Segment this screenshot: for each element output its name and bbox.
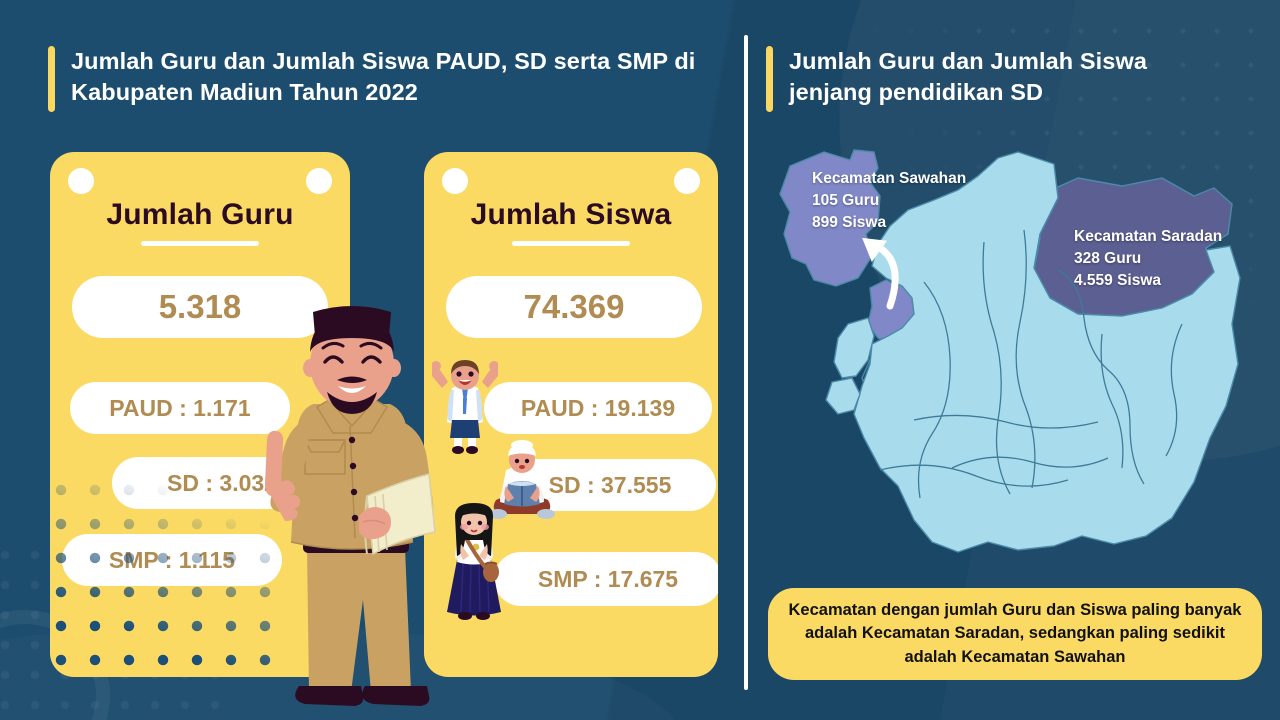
- siswa-smp-value: SMP : 17.675: [494, 552, 718, 606]
- title-accent-bar: [48, 46, 55, 112]
- map-caption-box: Kecamatan dengan jumlah Guru dan Siswa p…: [768, 588, 1262, 680]
- label-sawahan-siswa: 899 Siswa: [812, 212, 966, 234]
- card-header: Jumlah Guru: [50, 198, 350, 246]
- title-accent-bar: [766, 46, 773, 112]
- label-sawahan-name: Kecamatan Sawahan: [812, 168, 966, 190]
- label-saradan-name: Kecamatan Saradan: [1074, 226, 1222, 248]
- right-panel-title: Jumlah Guru dan Jumlah Siswa jenjang pen…: [766, 46, 1236, 112]
- punch-hole-icon: [68, 168, 94, 194]
- map-region-west-small-2: [826, 378, 860, 414]
- infographic-canvas: Jumlah Guru dan Jumlah Siswa PAUD, SD se…: [0, 0, 1280, 720]
- punch-hole-icon: [442, 168, 468, 194]
- card-underline: [141, 241, 259, 246]
- left-panel-title: Jumlah Guru dan Jumlah Siswa PAUD, SD se…: [48, 46, 708, 112]
- card-title: Jumlah Guru: [50, 198, 350, 232]
- punch-hole-icon: [674, 168, 700, 194]
- student-girl-icon: [443, 502, 505, 624]
- punch-hole-icon: [306, 168, 332, 194]
- left-title-text: Jumlah Guru dan Jumlah Siswa PAUD, SD se…: [71, 46, 708, 108]
- siswa-paud-value: PAUD : 19.139: [484, 382, 712, 434]
- card-underline: [512, 241, 630, 246]
- map-caption-text: Kecamatan dengan jumlah Guru dan Siswa p…: [786, 599, 1244, 669]
- right-title-text: Jumlah Guru dan Jumlah Siswa jenjang pen…: [789, 46, 1236, 108]
- panel-divider: [744, 35, 748, 690]
- guru-smp-value: SMP : 1.115: [62, 534, 282, 586]
- card-header: Jumlah Siswa: [424, 198, 718, 246]
- map-kabupaten-madiun: Kecamatan Sawahan 105 Guru 899 Siswa Kec…: [762, 138, 1272, 578]
- label-sawahan-guru: 105 Guru: [812, 190, 966, 212]
- card-title: Jumlah Siswa: [424, 198, 718, 232]
- map-label-sawahan: Kecamatan Sawahan 105 Guru 899 Siswa: [812, 168, 966, 234]
- label-saradan-guru: 328 Guru: [1074, 248, 1222, 270]
- map-label-saradan: Kecamatan Saradan 328 Guru 4.559 Siswa: [1074, 226, 1222, 292]
- label-saradan-siswa: 4.559 Siswa: [1074, 270, 1222, 292]
